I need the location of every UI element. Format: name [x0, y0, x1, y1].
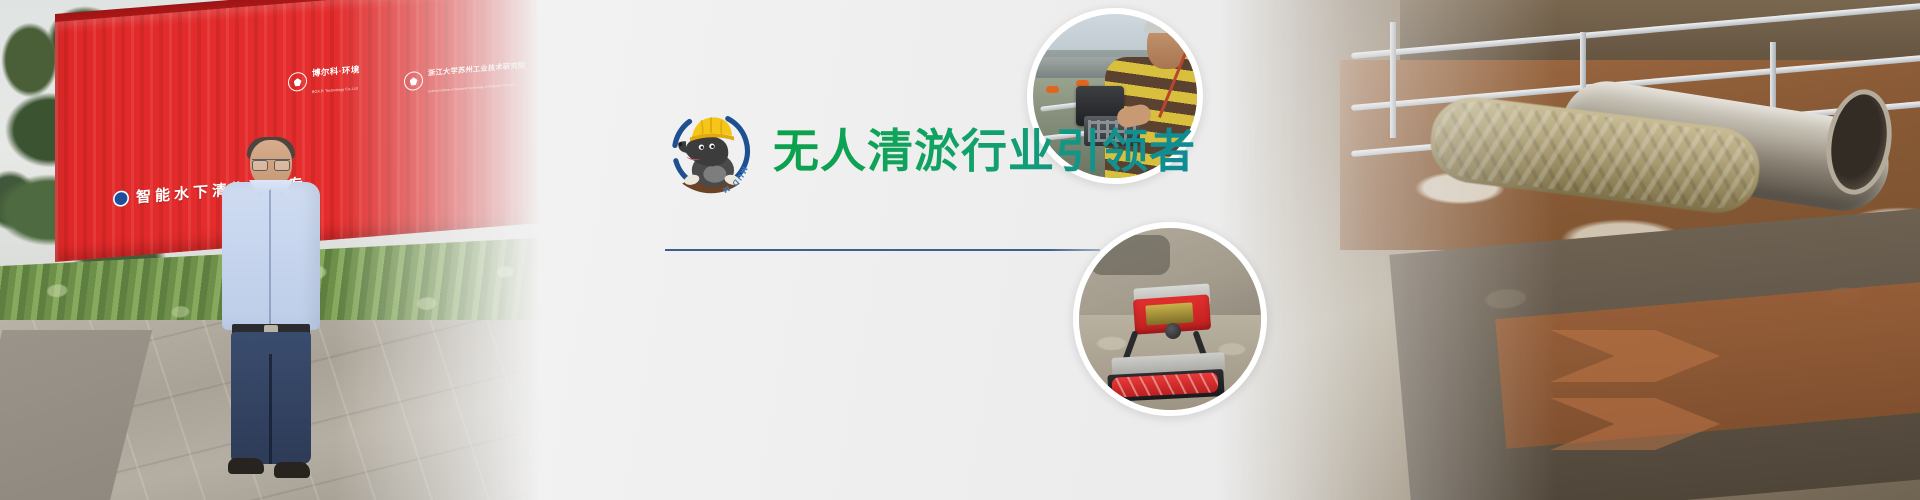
brand-seal-icon: [288, 72, 307, 93]
person-shirt: [222, 182, 320, 330]
person-jeans: [231, 332, 311, 464]
person-glasses: [252, 159, 290, 169]
person-in-blue-shirt: [216, 140, 326, 485]
partner-name-cn: 浙江大学苏州工业技术研究院: [428, 60, 525, 77]
logo-mole-nose: [678, 142, 682, 146]
operator-cap: [1144, 17, 1190, 33]
logo-mole-belly: [703, 165, 726, 182]
person-shoe-left: [228, 458, 264, 474]
banner-headline: 无人清淤行业引领者: [773, 125, 1196, 177]
sludge-discharge-pipe-photo: [1220, 0, 1920, 500]
partner-seal-icon: [404, 71, 423, 92]
container-site-photo: 博尔科·环境 BOX.P. Technology Co.,Ltd 浙江大学苏州工…: [0, 0, 540, 500]
hero-banner: 博尔科·环境 BOX.P. Technology Co.,Ltd 浙江大学苏州工…: [0, 0, 1920, 500]
robot-wheel: [1165, 323, 1181, 339]
person-shoe-right: [274, 462, 310, 478]
slogan-badge-icon: [113, 189, 129, 206]
center-content: MUD MOLE 无人清淤行业引领者: [655, 0, 1125, 500]
brand-name-cn: 博尔科·环境: [312, 64, 360, 78]
headline-divider: [665, 249, 1100, 251]
brand-name-en: BOX.P. Technology Co.,Ltd: [312, 86, 358, 94]
mud-mole-logo: MUD MOLE: [663, 103, 759, 199]
mud-mole-logo-svg: MUD MOLE: [663, 103, 759, 199]
